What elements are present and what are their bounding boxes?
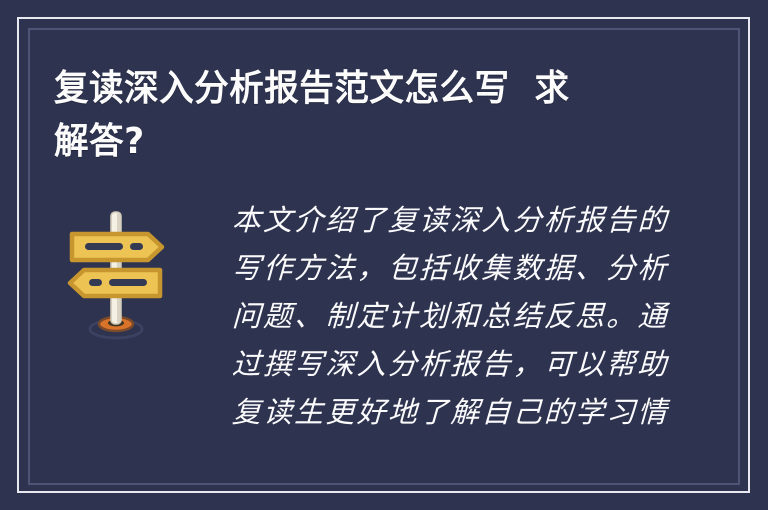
article-card: 复读深入分析报告范文怎么写 求 解答? <box>0 0 768 510</box>
summary-line-4: 过撰写深入分析报告，可以帮助 <box>231 340 693 388</box>
summary-line-3: 问题、制定计划和总结反思。通 <box>231 292 693 340</box>
page-title-line-2: 解答? <box>54 115 668 168</box>
summary-line-1: 本文介绍了复读深入分析报告的 <box>231 196 693 244</box>
article-summary: 本文介绍了复读深入分析报告的 写作方法，包括收集数据、分析 问题、制定计划和总结… <box>232 196 692 436</box>
page-title: 复读深入分析报告范文怎么写 求 解答? <box>54 62 694 168</box>
summary-line-2: 写作方法，包括收集数据、分析 <box>231 244 693 292</box>
page-title-line-1: 复读深入分析报告范文怎么写 求 <box>54 62 668 115</box>
signpost-icon <box>62 204 170 344</box>
summary-line-5: 复读生更好地了解自己的学习情 <box>231 388 693 436</box>
content-row: 本文介绍了复读深入分析报告的 写作方法，包括收集数据、分析 问题、制定计划和总结… <box>0 196 768 436</box>
illustration-cell <box>0 196 232 344</box>
